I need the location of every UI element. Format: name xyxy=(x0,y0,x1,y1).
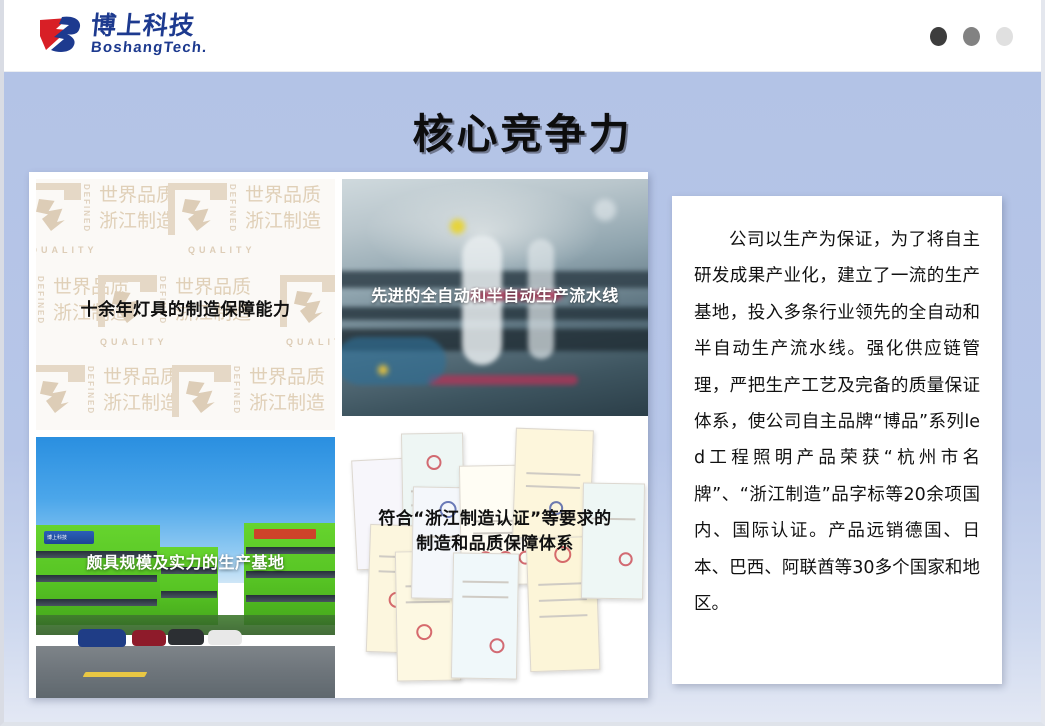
certificates-caption-line2: 制造和品质保障体系 xyxy=(342,532,648,557)
quality-seal-icon xyxy=(36,183,74,235)
nav-dot-active[interactable] xyxy=(930,27,947,46)
description-text: 公司以生产为保证，为了将自主研发成果产业化，建立了一流的生产基地，投入多条行业领… xyxy=(694,222,980,622)
factory-road xyxy=(36,646,335,698)
logo-company-cn: 博上科技 xyxy=(90,13,209,38)
boshang-logo-mark xyxy=(38,14,84,54)
certificate-item xyxy=(451,552,519,679)
logo-company-en: BoshangTech. xyxy=(90,40,208,55)
factory-signboard: 博上科技 xyxy=(44,531,94,544)
watermark-defined-text: DEFINED xyxy=(86,366,95,415)
tile-caption-quality: 十余年灯具的制造保障能力 xyxy=(36,295,335,320)
parked-car xyxy=(132,630,166,646)
factory-banner xyxy=(254,529,316,539)
watermark-cn-text: 世界品质 浙江制造 xyxy=(103,365,179,416)
quality-seal-icon xyxy=(168,183,220,235)
collage-grid: DEFINED 世界品质 浙江制造 QUALITY DEFINED 世界品质 浙… xyxy=(36,179,641,691)
factory-base-tile[interactable]: 博上科技 颇具规模及实力的生产基地 xyxy=(36,437,335,698)
quality-watermark-tile[interactable]: DEFINED 世界品质 浙江制造 QUALITY DEFINED 世界品质 浙… xyxy=(36,179,335,430)
parked-car xyxy=(208,630,242,645)
watermark-quality-text: QUALITY xyxy=(286,337,335,347)
watermark-cn-text: 世界品质 浙江制造 xyxy=(249,365,325,416)
collage-card: DEFINED 世界品质 浙江制造 QUALITY DEFINED 世界品质 浙… xyxy=(29,172,648,698)
tile-caption-certificates: 符合“浙江制造认证”等要求的 制造和品质保障体系 xyxy=(342,507,648,556)
production-line-tile[interactable]: 先进的全自动和半自动生产流水线 xyxy=(342,179,648,416)
brand-logo[interactable]: 博上科技 BoshangTech. xyxy=(38,13,208,55)
watermark-quality-text: QUALITY xyxy=(100,337,168,347)
parked-car xyxy=(78,629,126,647)
header-bar: 博上科技 BoshangTech. xyxy=(4,0,1041,72)
tile-caption-production-line: 先进的全自动和半自动生产流水线 xyxy=(342,282,648,306)
slide-canvas: 核心竞争力 DEFINED 世界品质 浙江制造 QUALITY xyxy=(4,72,1041,722)
watermark-cn-text: 世界品质 浙江制造 xyxy=(245,183,321,234)
nav-dot-third[interactable] xyxy=(996,27,1013,46)
watermark-cn-text: 世界品质 浙江制造 xyxy=(99,183,175,234)
tile-caption-factory: 颇具规模及实力的生产基地 xyxy=(36,549,335,573)
watermark-defined-text: DEFINED xyxy=(232,366,241,415)
description-panel: 公司以生产为保证，为了将自主研发成果产业化，建立了一流的生产基地，投入多条行业领… xyxy=(672,196,1002,684)
quality-seal-icon xyxy=(36,365,78,417)
logo-wordmark: 博上科技 BoshangTech. xyxy=(91,13,208,55)
certificates-tile[interactable]: 符合“浙江制造认证”等要求的 制造和品质保障体系 xyxy=(342,423,648,698)
watermark-quality-text: QUALITY xyxy=(188,245,256,255)
nav-dots[interactable] xyxy=(930,27,1013,46)
quality-seal-icon xyxy=(172,365,224,417)
page-title: 核心竞争力 xyxy=(4,100,1041,160)
slide-root: 博上科技 BoshangTech. 核心竞争力 DEFINED xyxy=(0,0,1045,726)
certificates-caption-line1: 符合“浙江制造认证”等要求的 xyxy=(342,507,648,532)
watermark-quality-text: QUALITY xyxy=(36,245,98,255)
watermark-defined-text: DEFINED xyxy=(82,184,91,233)
nav-dot-second[interactable] xyxy=(963,27,980,46)
watermark-defined-text: DEFINED xyxy=(228,184,237,233)
parked-car xyxy=(168,629,204,645)
